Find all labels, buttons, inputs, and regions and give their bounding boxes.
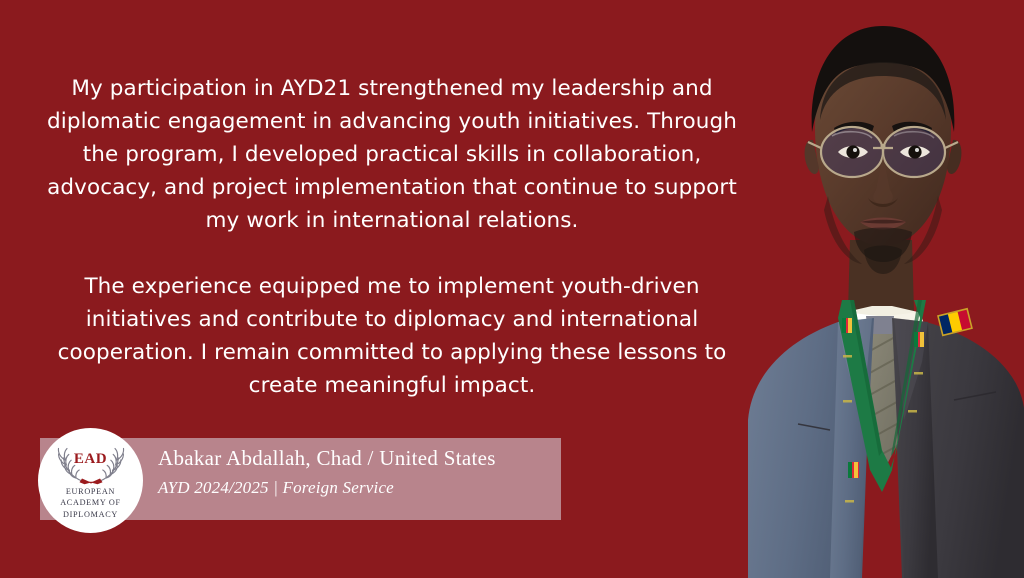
participant-program: AYD 2024/2025 | Foreign Service (158, 475, 558, 501)
testimonial-paragraph-1: My participation in AYD21 strengthened m… (42, 72, 742, 237)
logo-acronym: EAD (52, 451, 130, 468)
logo-wordmark-line-2: ACADEMY OF (60, 497, 121, 509)
logo-wordmark-line-1: EUROPEAN (60, 486, 121, 498)
logo-wordmark-line-3: DIPLOMACY (60, 509, 121, 521)
ribbon-shape (79, 478, 102, 484)
testimonial-paragraph-2: The experience equipped me to implement … (42, 270, 742, 402)
attribution-text: Abakar Abdallah, Chad / United States AY… (158, 443, 558, 501)
ead-logo: EAD EUROPEAN ACADEMY OF DIPLOMACY (38, 428, 143, 533)
logo-wordmark: EUROPEAN ACADEMY OF DIPLOMACY (60, 486, 121, 521)
participant-portrait (742, 0, 1024, 578)
testimonial-card: My participation in AYD21 strengthened m… (0, 0, 1024, 578)
laurel-wreath-icon: EAD (52, 443, 130, 485)
participant-name: Abakar Abdallah, Chad / United States (158, 443, 558, 473)
testimonial-quote: My participation in AYD21 strengthened m… (42, 72, 742, 402)
